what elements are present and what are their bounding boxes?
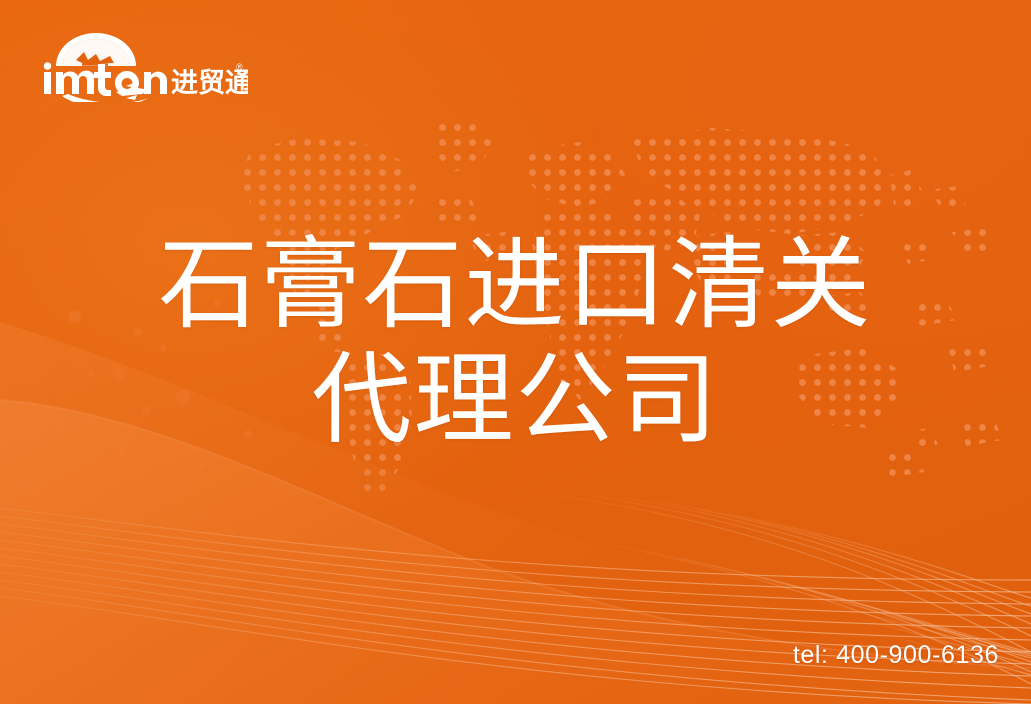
headline-line-2: 代理公司 — [0, 343, 1031, 458]
headline-line-1: 石膏石进口清关 — [0, 228, 1031, 343]
logo-wordmark — [44, 62, 167, 96]
trademark-symbol: ® — [236, 62, 243, 72]
logo-chinese-text: 进贸通 — [171, 68, 248, 98]
brand-logo[interactable]: 进贸通 ® — [38, 30, 248, 102]
page-title: 石膏石进口清关 代理公司 — [0, 228, 1031, 458]
promo-banner: 进贸通 ® 石膏石进口清关 代理公司 tel: 400-900-6136 — [0, 0, 1031, 704]
contact-phone[interactable]: tel: 400-900-6136 — [793, 641, 999, 670]
